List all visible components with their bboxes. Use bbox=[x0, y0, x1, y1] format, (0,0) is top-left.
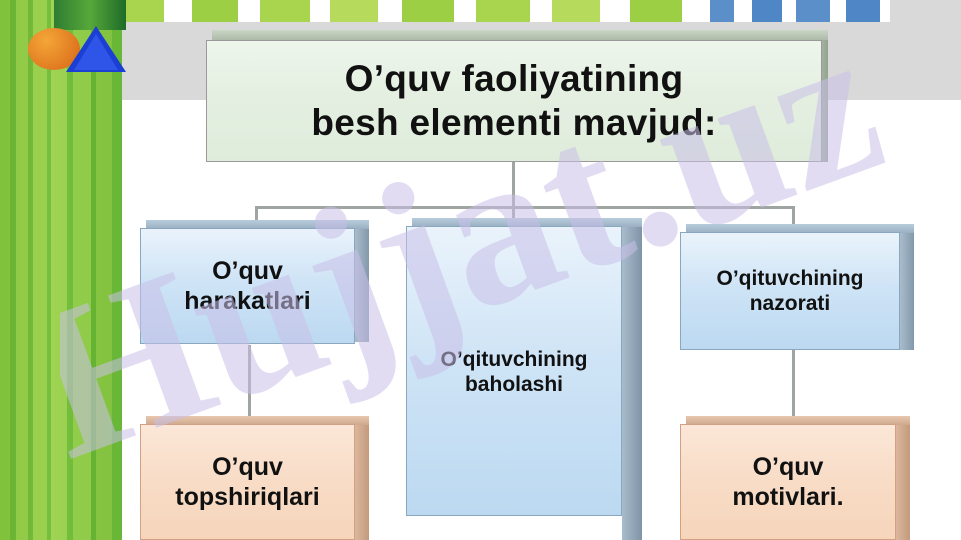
connector-left-to-bottom bbox=[248, 345, 251, 417]
top-band-segment-12 bbox=[552, 0, 600, 22]
left-column-stripe-6 bbox=[51, 0, 67, 540]
logo-blue-triangle-inner-icon bbox=[74, 34, 118, 70]
left-column-stripe-11 bbox=[112, 0, 122, 540]
node-oqituvchining-nazorati: O’qituvchining nazorati bbox=[680, 232, 900, 350]
node-oquv-harakatlari-line-2: harakatlari bbox=[184, 286, 310, 316]
header-grey-strip-right bbox=[890, 0, 961, 100]
top-decorative-band bbox=[0, 0, 961, 22]
top-band-segment-14 bbox=[630, 0, 682, 22]
node-oquv-topshiriqlari: O’quv topshiriqlari bbox=[140, 424, 355, 540]
node-oqituvchining-nazorati-line-2: nazorati bbox=[717, 291, 864, 316]
node-oqituvchining-baholashi-line-2: baholashi bbox=[441, 372, 588, 397]
node-oquv-harakatlari: O’quv harakatlari bbox=[140, 228, 355, 344]
node-oquv-motivlari-line-1: O’quv bbox=[732, 452, 843, 482]
right-top-box-side-face bbox=[900, 230, 914, 350]
node-oqituvchining-baholashi: O’qituvchining baholashi bbox=[406, 226, 622, 516]
left-column-stripe-2 bbox=[16, 0, 28, 540]
title-line-2: besh elementi mavjud: bbox=[311, 101, 716, 145]
top-band-segment-16 bbox=[710, 0, 734, 22]
top-band-segment-6 bbox=[330, 0, 378, 22]
top-band-segment-11 bbox=[530, 0, 552, 22]
top-band-segment-13 bbox=[600, 0, 630, 22]
top-band-segment-15 bbox=[682, 0, 710, 22]
node-oquv-motivlari: O’quv motivlari. bbox=[680, 424, 896, 540]
node-oquv-topshiriqlari-line-2: topshiriqlari bbox=[175, 482, 319, 512]
title-box: O’quv faoliyatining besh elementi mavjud… bbox=[206, 40, 822, 162]
title-box-top-face bbox=[212, 30, 828, 40]
connector-horizontal-bus bbox=[255, 206, 795, 209]
slide-canvas: O’quv faoliyatining besh elementi mavjud… bbox=[0, 0, 961, 540]
top-band-segment-8 bbox=[402, 0, 454, 22]
left-bottom-box-side-face bbox=[355, 422, 369, 540]
node-oquv-harakatlari-line-1: O’quv bbox=[184, 256, 310, 286]
top-band-segment-21 bbox=[830, 0, 846, 22]
top-band-segment-17 bbox=[734, 0, 752, 22]
node-oquv-motivlari-line-2: motivlari. bbox=[732, 482, 843, 512]
node-oqituvchining-nazorati-line-1: O’qituvchining bbox=[717, 266, 864, 291]
left-top-box-side-face bbox=[355, 226, 369, 342]
top-band-segment-4 bbox=[260, 0, 310, 22]
node-oqituvchining-baholashi-line-1: O’qituvchining bbox=[441, 347, 588, 372]
top-band-segment-7 bbox=[378, 0, 402, 22]
top-band-segment-20 bbox=[796, 0, 830, 22]
top-band-segment-9 bbox=[454, 0, 476, 22]
left-column-stripe-4 bbox=[33, 0, 47, 540]
connector-title-down bbox=[512, 160, 515, 208]
top-band-segment-1 bbox=[164, 0, 192, 22]
top-band-segment-5 bbox=[310, 0, 330, 22]
top-band-segment-22 bbox=[846, 0, 880, 22]
left-column-stripe-8 bbox=[73, 0, 91, 540]
left-column-stripe-10 bbox=[96, 0, 112, 540]
top-band-segment-18 bbox=[752, 0, 782, 22]
top-band-segment-2 bbox=[192, 0, 238, 22]
node-oquv-topshiriqlari-line-1: O’quv bbox=[175, 452, 319, 482]
center-box-side-face bbox=[622, 224, 642, 540]
top-band-segment-0 bbox=[122, 0, 164, 22]
left-column-stripe-0 bbox=[0, 0, 10, 540]
right-bottom-box-side-face bbox=[896, 422, 910, 540]
logo bbox=[14, 0, 124, 80]
connector-right-to-bottom bbox=[792, 350, 795, 416]
top-band-segment-19 bbox=[782, 0, 796, 22]
title-line-1: O’quv faoliyatining bbox=[311, 57, 716, 101]
top-band-segment-3 bbox=[238, 0, 260, 22]
top-band-segment-10 bbox=[476, 0, 530, 22]
left-green-column bbox=[0, 0, 122, 540]
